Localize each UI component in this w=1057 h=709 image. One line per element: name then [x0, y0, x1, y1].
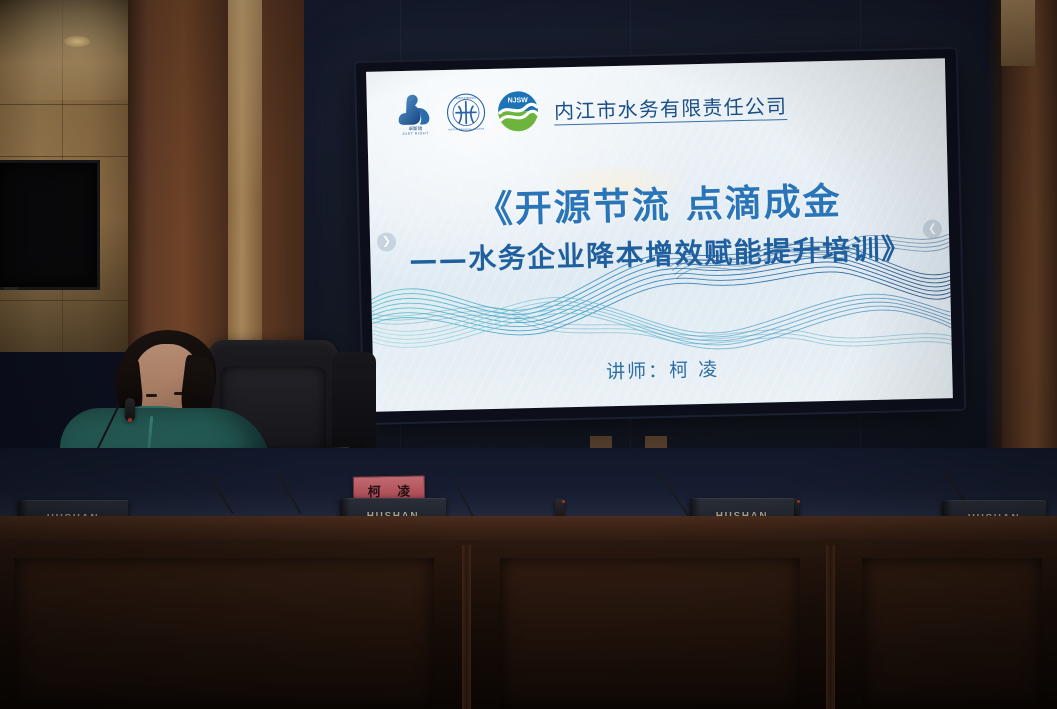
ceiling-downlight — [64, 36, 90, 47]
slide-screen: 卓斯瑞 JUST RIGHT 水务行业培训中心 WATER TRAINING C… — [366, 58, 953, 412]
name-plate-text: 柯 凌 — [362, 480, 417, 500]
slide-title-block: 《开源节流 点滴成金 ——水务企业降本增效赋能提升培训》 — [369, 168, 950, 280]
svg-text:水务行业培训中心: 水务行业培训中心 — [455, 95, 476, 99]
desk-divider-1 — [462, 545, 471, 709]
presentation-display[interactable]: 卓斯瑞 JUST RIGHT 水务行业培训中心 WATER TRAINING C… — [356, 49, 964, 423]
desk-panel-1 — [14, 558, 434, 708]
desk-panel-3 — [862, 558, 1042, 708]
desk-divider-2 — [826, 545, 835, 709]
just-right-logo: 卓斯瑞 JUST RIGHT — [395, 91, 436, 141]
svg-text:NJSW: NJSW — [508, 97, 529, 104]
column-light-glow — [228, 0, 262, 200]
wall-mounted-monitor — [0, 160, 100, 290]
svg-text:WATER TRAINING CENTER: WATER TRAINING CENTER — [448, 127, 484, 131]
desk-panel-2 — [500, 558, 800, 708]
conference-room-scene: 卓斯瑞 JUST RIGHT 水务行业培训中心 WATER TRAINING C… — [0, 0, 1057, 709]
njsw-logo: NJSW — [497, 89, 540, 137]
svg-text:JUST RIGHT: JUST RIGHT — [402, 131, 429, 136]
right-column-lit-top — [1001, 0, 1035, 66]
water-training-center-logo: 水务行业培训中心 WATER TRAINING CENTER — [446, 92, 487, 138]
company-name: 内江市水务有限责任公司 — [554, 94, 788, 124]
desk-back-panel — [0, 448, 1057, 520]
